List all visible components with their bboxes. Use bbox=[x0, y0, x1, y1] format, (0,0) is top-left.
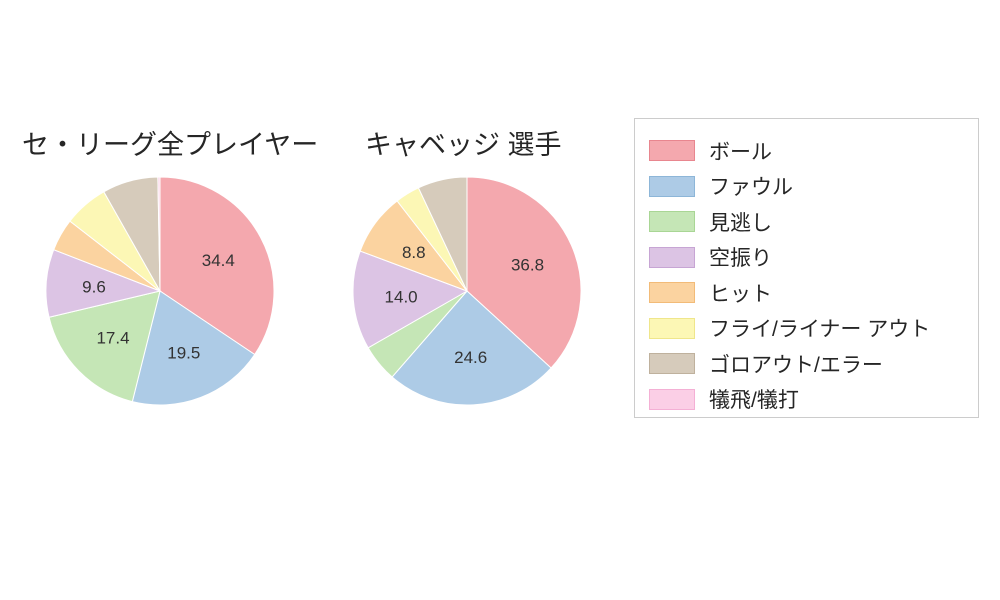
pie-svg-league: 34.419.517.49.6 bbox=[45, 176, 275, 406]
legend-label: ゴロアウト/エラー bbox=[709, 349, 883, 379]
legend-label: 犠飛/犠打 bbox=[709, 384, 799, 414]
legend-label: フライ/ライナー アウト bbox=[709, 313, 930, 343]
legend-item[interactable]: フライ/ライナー アウト bbox=[635, 311, 978, 347]
legend-item[interactable]: ファウル bbox=[635, 169, 978, 205]
pie-slice-label: 24.6 bbox=[454, 348, 487, 367]
pie-slice-label: 19.5 bbox=[167, 344, 200, 363]
legend-box: ボールファウル見逃し空振りヒットフライ/ライナー アウトゴロアウト/エラー犠飛/… bbox=[634, 118, 979, 418]
legend-swatch bbox=[649, 247, 695, 268]
legend-swatch bbox=[649, 318, 695, 339]
legend-swatch bbox=[649, 176, 695, 197]
legend-label: 空振り bbox=[709, 242, 772, 272]
legend-swatch bbox=[649, 211, 695, 232]
pie-slice-label: 14.0 bbox=[385, 287, 418, 306]
pie-slice-label: 36.8 bbox=[511, 255, 544, 274]
legend-swatch bbox=[649, 353, 695, 374]
legend-item[interactable]: 見逃し bbox=[635, 204, 978, 240]
pie-slice-label: 34.4 bbox=[202, 251, 235, 270]
legend-label: ファウル bbox=[709, 171, 793, 201]
legend-swatch bbox=[649, 389, 695, 410]
legend-label: ヒット bbox=[709, 278, 772, 308]
legend-item[interactable]: 空振り bbox=[635, 240, 978, 276]
legend-rows: ボールファウル見逃し空振りヒットフライ/ライナー アウトゴロアウト/エラー犠飛/… bbox=[635, 133, 978, 417]
chart-title-left: セ・リーグ全プレイヤー bbox=[22, 123, 318, 162]
legend-label: 見逃し bbox=[709, 207, 772, 237]
pie-svg-player: 36.824.614.08.8 bbox=[352, 176, 582, 406]
pie-chart-league: 34.419.517.49.6 bbox=[45, 176, 275, 406]
legend-item[interactable]: ヒット bbox=[635, 275, 978, 311]
legend-item[interactable]: ボール bbox=[635, 133, 978, 169]
pie-slice-label: 9.6 bbox=[82, 277, 106, 296]
pie-slice-label: 8.8 bbox=[402, 243, 426, 262]
pie-chart-player: 36.824.614.08.8 bbox=[352, 176, 582, 406]
pie-slice-label: 17.4 bbox=[96, 329, 129, 348]
legend-label: ボール bbox=[709, 136, 772, 166]
legend-item[interactable]: ゴロアウト/エラー bbox=[635, 346, 978, 382]
legend-swatch bbox=[649, 282, 695, 303]
chart-title-right: キャベッジ 選手 bbox=[365, 123, 562, 162]
legend-swatch bbox=[649, 140, 695, 161]
chart-canvas: セ・リーグ全プレイヤー キャベッジ 選手 34.419.517.49.6 36.… bbox=[0, 0, 1000, 600]
legend-item[interactable]: 犠飛/犠打 bbox=[635, 382, 978, 418]
